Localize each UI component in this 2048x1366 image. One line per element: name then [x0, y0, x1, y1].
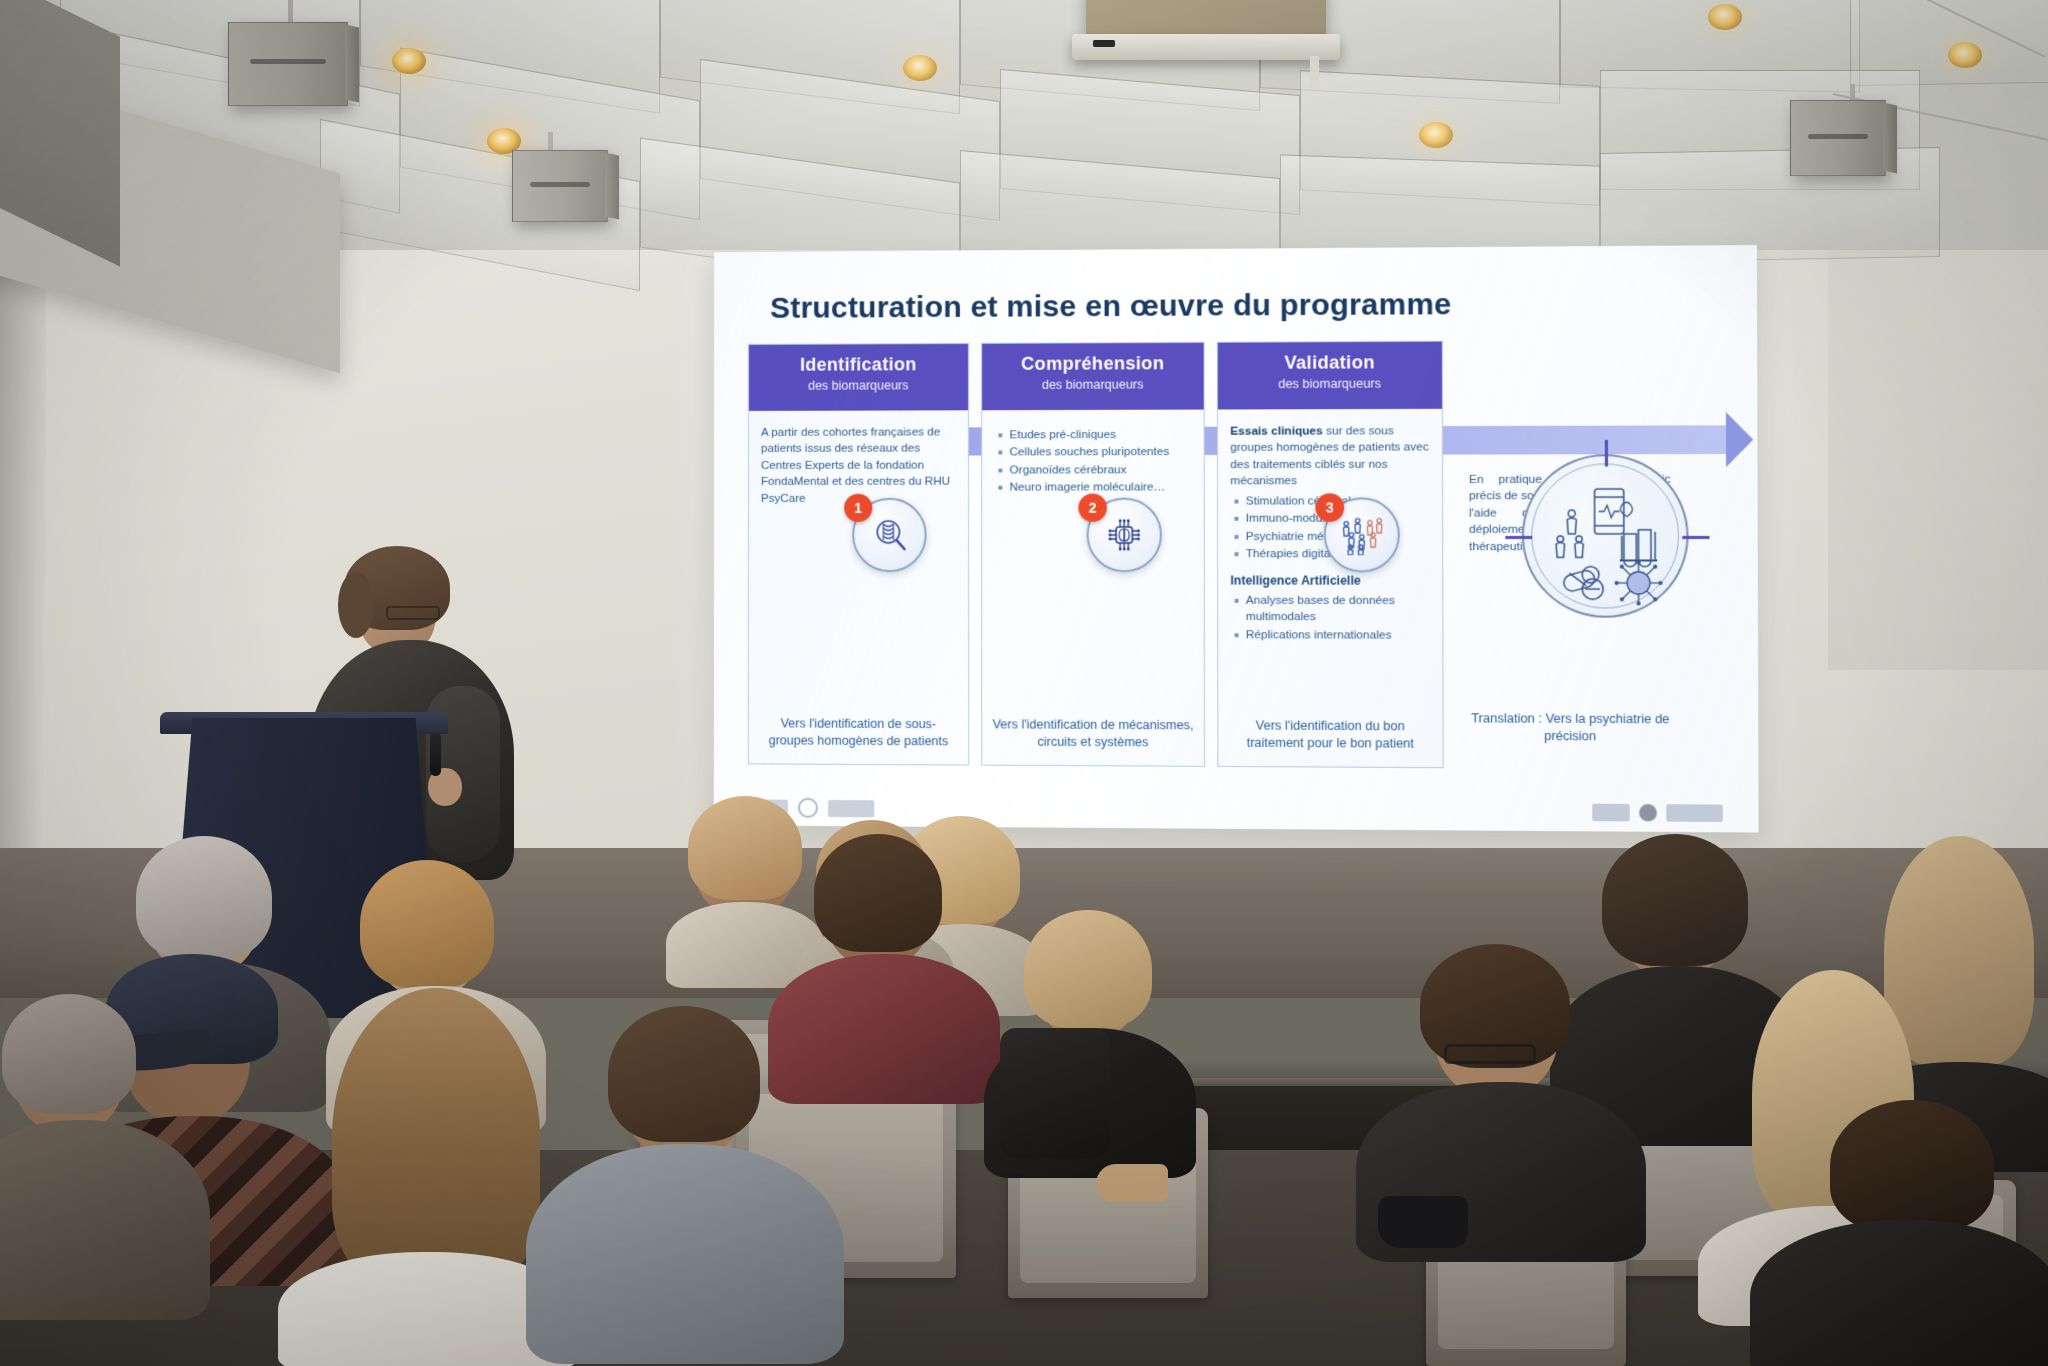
column-footer-text: Vers l'identification de sous-groupes ho…: [759, 715, 958, 751]
ceiling-spotlight: [1419, 122, 1453, 148]
projector: EPSON: [1086, 0, 1326, 36]
speaker-grille: [1808, 134, 1868, 139]
backpack: [1000, 1028, 1110, 1158]
hair: [1024, 910, 1152, 1028]
boot: [1378, 1196, 1468, 1248]
step-badge: 2: [1078, 494, 1106, 522]
audience-member: [560, 1018, 810, 1366]
ceiling-speaker: [512, 150, 608, 222]
column-header-subtitle: des biomarqueurs: [1218, 376, 1442, 391]
step-badge: 3: [1315, 493, 1344, 521]
presenter-glasses: [386, 606, 440, 620]
precision-medicine-circle: [1522, 454, 1689, 618]
list-item: Organoïdes cérébraux: [996, 462, 1191, 478]
speaker-grille: [250, 59, 326, 64]
shoulders: [1750, 1220, 2048, 1366]
column-header: Validation des biomarqueurs: [1218, 342, 1442, 410]
conference-room-scene: EPSON Structuration et mise en œuvre du …: [0, 0, 2048, 1366]
list-item: Cellules souches pluripotentes: [996, 444, 1191, 461]
audience-member: [686, 806, 804, 956]
patient-group-icon: [1338, 515, 1385, 556]
timeline-node-2: 2: [1087, 498, 1162, 573]
speaker-grille: [530, 182, 590, 187]
brain-chip-icon: [1104, 515, 1145, 555]
column-header-title: Compréhension: [982, 353, 1203, 375]
slide-logos-right: [1592, 804, 1723, 822]
hair: [2, 994, 136, 1114]
hair: [688, 796, 802, 900]
wall-right-panel: [1828, 200, 2048, 670]
ceiling-speaker: [1790, 100, 1886, 176]
hair: [608, 1006, 760, 1142]
logo-mark-inserm: [1592, 804, 1630, 822]
timeline-node-1: 1: [852, 498, 926, 572]
ceiling-spotlight: [903, 55, 937, 81]
hair: [332, 988, 540, 1288]
logo-mark: [828, 799, 874, 816]
column-footer-text: Vers l'identification de mécanismes, cir…: [992, 716, 1193, 752]
column-footer-text: Vers l'identification du bon traitement …: [1229, 717, 1433, 753]
slide-title: Structuration et mise en œuvre du progra…: [770, 286, 1721, 326]
ceiling-speaker: [228, 22, 348, 106]
hair: [1830, 1100, 1994, 1232]
section-title-ai: Intelligence Artificielle: [1230, 573, 1429, 590]
column-header: Compréhension des biomarqueurs: [982, 343, 1204, 410]
audience-member: [1760, 1120, 2048, 1366]
ceiling-spotlight: [1948, 42, 1982, 68]
audience-member: [0, 1000, 180, 1300]
shoulders: [526, 1144, 844, 1364]
list-item: Analyses bases de données multimodales: [1232, 593, 1429, 626]
hair: [1602, 834, 1748, 966]
shoulders: [0, 1120, 210, 1320]
projector-pole: [1310, 56, 1319, 90]
ceiling-spotlight: [1708, 4, 1742, 30]
bullet-list-ai: Analyses bases de données multimodales R…: [1232, 593, 1430, 644]
eyeglasses: [1444, 1044, 1536, 1064]
slide: Structuration et mise en œuvre du progra…: [714, 245, 1759, 832]
column-header-title: Identification: [749, 354, 968, 376]
column-header-title: Validation: [1218, 352, 1442, 374]
magnifier-dna-icon: [869, 515, 909, 555]
projector-mount-plate: [1072, 34, 1340, 60]
presenter-hair: [338, 572, 374, 638]
list-item: Etudes pré-cliniques: [996, 427, 1191, 444]
step-badge: 1: [844, 494, 872, 522]
hair: [136, 836, 272, 960]
precision-medicine-cluster-icon: [1526, 458, 1689, 618]
projection-screen: Structuration et mise en œuvre du progra…: [714, 245, 1759, 832]
timeline-arrow-head: [1726, 412, 1753, 467]
audience-member: [796, 842, 966, 1082]
column-footer-text: Translation : Vers la psychiatrie de pré…: [1467, 710, 1673, 746]
ceiling-spotlight: [392, 48, 426, 74]
body-lead: Essais cliniques: [1230, 424, 1323, 437]
list-item: Réplications internationales: [1233, 627, 1430, 644]
column-header-subtitle: des biomarqueurs: [749, 378, 968, 393]
column-body-text: Etudes pré-cliniques Cellules souches pl…: [994, 424, 1191, 498]
column-header-subtitle: des biomarqueurs: [982, 377, 1203, 392]
shoe: [1096, 1164, 1168, 1202]
hair: [360, 860, 494, 988]
handheld-microphone: [430, 732, 441, 776]
logo-mark: [1639, 804, 1657, 822]
body-paragraph: Essais cliniques sur des sous groupes ho…: [1230, 423, 1429, 490]
column-header: Identification des biomarqueurs: [749, 344, 968, 411]
columns-container: Identification des biomarqueurs A partir…: [748, 339, 1723, 769]
hair: [814, 834, 942, 952]
bullet-list: Etudes pré-cliniques Cellules souches pl…: [996, 427, 1191, 496]
logo-mark-fondamental: [1666, 804, 1723, 822]
timeline-node-3: 3: [1324, 497, 1400, 572]
